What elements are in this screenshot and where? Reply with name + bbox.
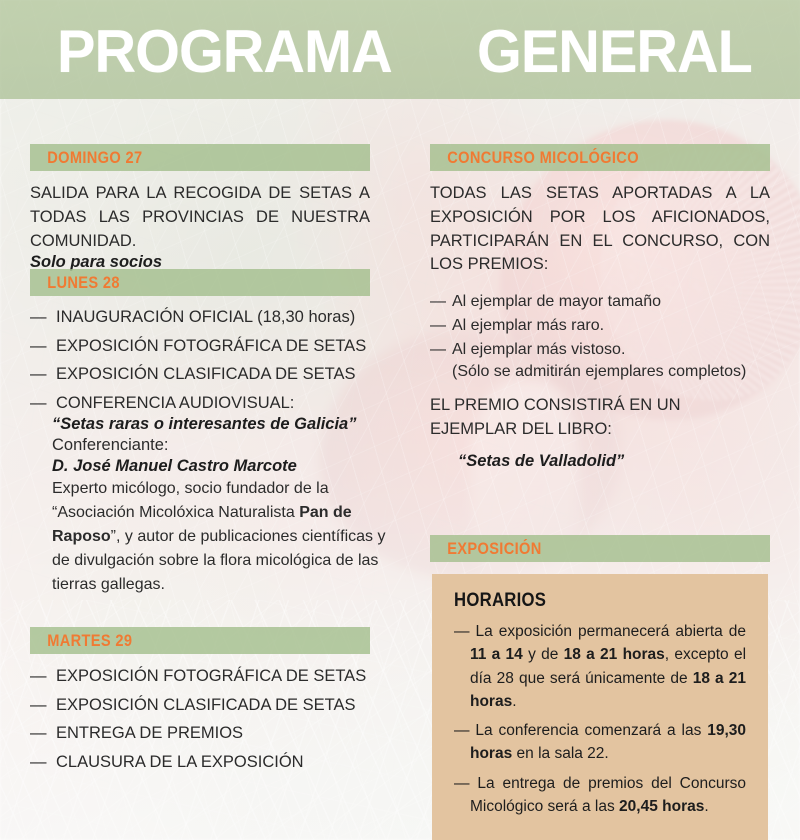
premios-list: Al ejemplar de mayor tamaño Al ejemplar … (430, 290, 770, 362)
section-bar-domingo-27: DOMINGO 27 (30, 144, 370, 171)
horarios-line-2: La conferencia comenzará a las 19,30 hor… (454, 719, 746, 766)
conference-speaker-bio: Experto micólogo, socio fundador de la “… (52, 477, 392, 597)
list-item: Al ejemplar de mayor tamaño (430, 290, 770, 314)
horarios-line-3-post: . (704, 798, 708, 815)
section-bar-label-lunes-28: LUNES 28 (30, 273, 120, 293)
section-bar-label-exposicion: EXPOSICIÓN (430, 539, 542, 559)
page-title-programa: PROGRAMA (57, 22, 392, 82)
conference-speaker-name: D. José Manuel Castro Marcote (52, 457, 392, 476)
domingo-body-text: SALIDA PARA LA RECOGIDA DE SETAS A TODAS… (30, 182, 370, 253)
conference-title: “Setas raras o interesantes de Galicia” (52, 415, 392, 434)
horarios-line-1-bold-2: 18 a 21 horas (564, 646, 665, 663)
bio-text-part-1: Experto micólogo, socio fundador de la “… (52, 480, 329, 521)
horarios-line-1-mid: y de (523, 646, 564, 663)
conference-speaker-label: Conferenciante: (52, 436, 392, 455)
horarios-line-1-bold-1: 11 a 14 (470, 646, 523, 663)
horarios-info-box: HORARIOS La exposición permanecerá abier… (432, 574, 768, 840)
conference-details-block: “Setas raras o interesantes de Galicia” … (30, 415, 392, 597)
section-bar-label-concurso-micologico: CONCURSO MICOLÓGICO (430, 148, 639, 168)
list-item: CONFERENCIA AUDIOVISUAL: (30, 389, 370, 418)
section-bar-exposicion: EXPOSICIÓN (430, 535, 770, 562)
premios-block: Al ejemplar de mayor tamaño Al ejemplar … (430, 290, 770, 383)
list-item: EXPOSICIÓN CLASIFICADA DE SETAS (30, 691, 370, 720)
list-item: EXPOSICIÓN FOTOGRÁFICA DE SETAS (30, 332, 370, 361)
premios-note: (Sólo se admitirán ejemplares completos) (430, 362, 770, 383)
horarios-line-3: La entrega de premios del Concurso Micol… (454, 772, 746, 819)
section-bar-concurso-micologico: CONCURSO MICOLÓGICO (430, 144, 770, 171)
premio-libro-text: EL PREMIO CONSISTIRÁ EN UN EJEMPLAR DEL … (430, 394, 770, 442)
list-item: Al ejemplar más raro. (430, 314, 770, 338)
list-item: Al ejemplar más vistoso. (430, 338, 770, 362)
list-item: ENTREGA DE PREMIOS (30, 719, 370, 748)
page-header-inner: PROGRAMA GENERAL (0, 0, 800, 99)
list-item: INAUGURACIÓN OFICIAL (18,30 horas) (30, 303, 370, 332)
horarios-line-2-post: en la sala 22. (512, 745, 609, 762)
lunes-28-activity-list: INAUGURACIÓN OFICIAL (18,30 horas) EXPOS… (30, 303, 370, 417)
horarios-line-1-pre: La exposición permanecerá abierta de (476, 623, 746, 640)
section-bar-label-domingo-27: DOMINGO 27 (30, 148, 142, 168)
horarios-line-1: La exposición permanecerá abierta de 11 … (454, 620, 746, 713)
page-title-general: GENERAL (477, 22, 752, 82)
list-item: EXPOSICIÓN FOTOGRÁFICA DE SETAS (30, 662, 370, 691)
concurso-body-text: TODAS LAS SETAS APORTADAS A LA EXPOSICIÓ… (430, 182, 770, 277)
domingo-body-block: SALIDA PARA LA RECOGIDA DE SETAS A TODAS… (30, 182, 370, 272)
horarios-line-2-pre: La conferencia comenzará a las (475, 722, 707, 739)
horarios-line-1-end: . (512, 693, 516, 710)
martes-29-activity-list: EXPOSICIÓN FOTOGRÁFICA DE SETAS EXPOSICI… (30, 662, 370, 776)
horarios-title: HORARIOS (454, 590, 711, 612)
section-bar-martes-29: MARTES 29 (30, 627, 370, 654)
poster-canvas: PROGRAMA GENERAL DOMINGO 27 SALIDA PARA … (0, 0, 800, 840)
page-header-band: PROGRAMA GENERAL (0, 0, 800, 99)
horarios-line-3-bold: 20,45 horas (619, 798, 704, 815)
section-bar-lunes-28: LUNES 28 (30, 269, 370, 296)
section-bar-label-martes-29: MARTES 29 (30, 631, 132, 651)
list-item: EXPOSICIÓN CLASIFICADA DE SETAS (30, 360, 370, 389)
list-item: CLAUSURA DE LA EXPOSICIÓN (30, 748, 370, 777)
premio-book-title: “Setas de Valladolid” (430, 452, 798, 471)
